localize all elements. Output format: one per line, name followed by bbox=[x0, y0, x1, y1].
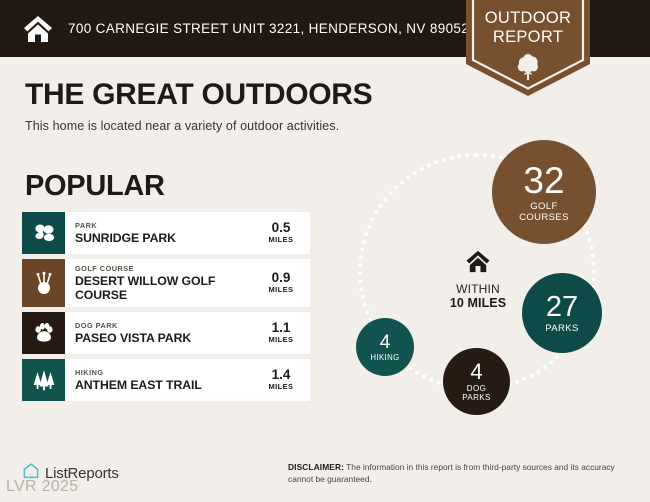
poi-distance-value: 1.1 bbox=[272, 321, 291, 335]
poi-distance-value: 1.4 bbox=[272, 368, 291, 382]
diagram-center-line2: 10 MILES bbox=[432, 296, 524, 311]
stat-circle-parks: 27 PARKS bbox=[522, 273, 602, 353]
poi-distance-unit: MILES bbox=[269, 382, 294, 392]
poi-distance-unit: MILES bbox=[269, 335, 294, 345]
poi-distance: 1.4 MILES bbox=[258, 359, 310, 401]
poi-name: SUNRIDGE PARK bbox=[75, 231, 176, 245]
poi-distance-unit: MILES bbox=[269, 285, 294, 295]
diagram-center-line1: WITHIN bbox=[432, 282, 524, 296]
poi-distance: 0.5 MILES bbox=[258, 212, 310, 254]
poi-distance: 0.9 MILES bbox=[258, 259, 310, 307]
diagram-center: WITHIN 10 MILES bbox=[432, 250, 524, 311]
within-10-miles-diagram: 32 GOLF COURSES 27 PARKS 4 DOG PARKS 4 H… bbox=[340, 145, 640, 440]
stat-label-line1: HIKING bbox=[370, 353, 399, 362]
poi-distance-value: 0.5 bbox=[272, 221, 291, 235]
stat-label-line1: DOG bbox=[467, 384, 486, 394]
stat-circle-golf-courses: 32 GOLF COURSES bbox=[492, 140, 596, 244]
stat-value: 4 bbox=[380, 333, 391, 352]
home-icon bbox=[432, 250, 524, 278]
home-icon bbox=[22, 13, 54, 45]
disclaimer: DISCLAIMER: The information in this repo… bbox=[288, 462, 618, 485]
list-item[interactable]: GOLF COURSE DESERT WILLOW GOLF COURSE 0.… bbox=[22, 259, 310, 307]
poi-distance: 1.1 MILES bbox=[258, 312, 310, 354]
poi-name: ANTHEM EAST TRAIL bbox=[75, 378, 202, 392]
poi-distance-value: 0.9 bbox=[272, 271, 291, 285]
list-item-body: HIKING ANTHEM EAST TRAIL bbox=[65, 359, 258, 401]
list-item-body: PARK SUNRIDGE PARK bbox=[65, 212, 258, 254]
stat-value: 32 bbox=[523, 162, 564, 199]
poi-name: PASEO VISTA PARK bbox=[75, 331, 191, 345]
stat-label-line1: GOLF bbox=[530, 201, 557, 212]
stat-label-line1: PARKS bbox=[545, 323, 579, 334]
poi-name: DESERT WILLOW GOLF COURSE bbox=[75, 274, 251, 302]
poi-category: PARK bbox=[75, 221, 176, 231]
list-item-body: GOLF COURSE DESERT WILLOW GOLF COURSE bbox=[65, 259, 258, 307]
stat-label-line2: PARKS bbox=[462, 393, 491, 403]
outdoor-report-badge: OUTDOOR REPORT bbox=[466, 0, 590, 96]
popular-poi-list: PARK SUNRIDGE PARK 0.5 MILES bbox=[22, 212, 310, 406]
stat-value: 27 bbox=[546, 293, 578, 322]
watermark: LVR 2025 bbox=[6, 478, 78, 496]
poi-category: DOG PARK bbox=[75, 321, 191, 331]
stat-value: 4 bbox=[470, 361, 482, 383]
golf-icon bbox=[22, 259, 65, 307]
poi-category: GOLF COURSE bbox=[75, 264, 251, 274]
list-item[interactable]: PARK SUNRIDGE PARK 0.5 MILES bbox=[22, 212, 310, 254]
popular-heading: POPULAR bbox=[25, 170, 165, 203]
list-item[interactable]: DOG PARK PASEO VISTA PARK 1.1 MILES bbox=[22, 312, 310, 354]
trees-icon bbox=[22, 359, 65, 401]
poi-distance-unit: MILES bbox=[269, 235, 294, 245]
stat-circle-dog-parks: 4 DOG PARKS bbox=[443, 348, 510, 415]
stat-label-line2: COURSES bbox=[519, 212, 569, 223]
list-item-body: DOG PARK PASEO VISTA PARK bbox=[65, 312, 258, 354]
disclaimer-label: DISCLAIMER: bbox=[288, 462, 344, 472]
page-title: THE GREAT OUTDOORS bbox=[25, 78, 372, 112]
outdoor-report-page: 700 CARNEGIE STREET UNIT 3221, HENDERSON… bbox=[0, 0, 650, 502]
property-address: 700 CARNEGIE STREET UNIT 3221, HENDERSON… bbox=[68, 21, 469, 36]
paw-icon bbox=[22, 312, 65, 354]
list-item[interactable]: HIKING ANTHEM EAST TRAIL 1.4 MILES bbox=[22, 359, 310, 401]
stat-circle-hiking: 4 HIKING bbox=[356, 318, 414, 376]
park-icon bbox=[22, 212, 65, 254]
page-subtitle: This home is located near a variety of o… bbox=[25, 119, 339, 133]
poi-category: HIKING bbox=[75, 368, 202, 378]
